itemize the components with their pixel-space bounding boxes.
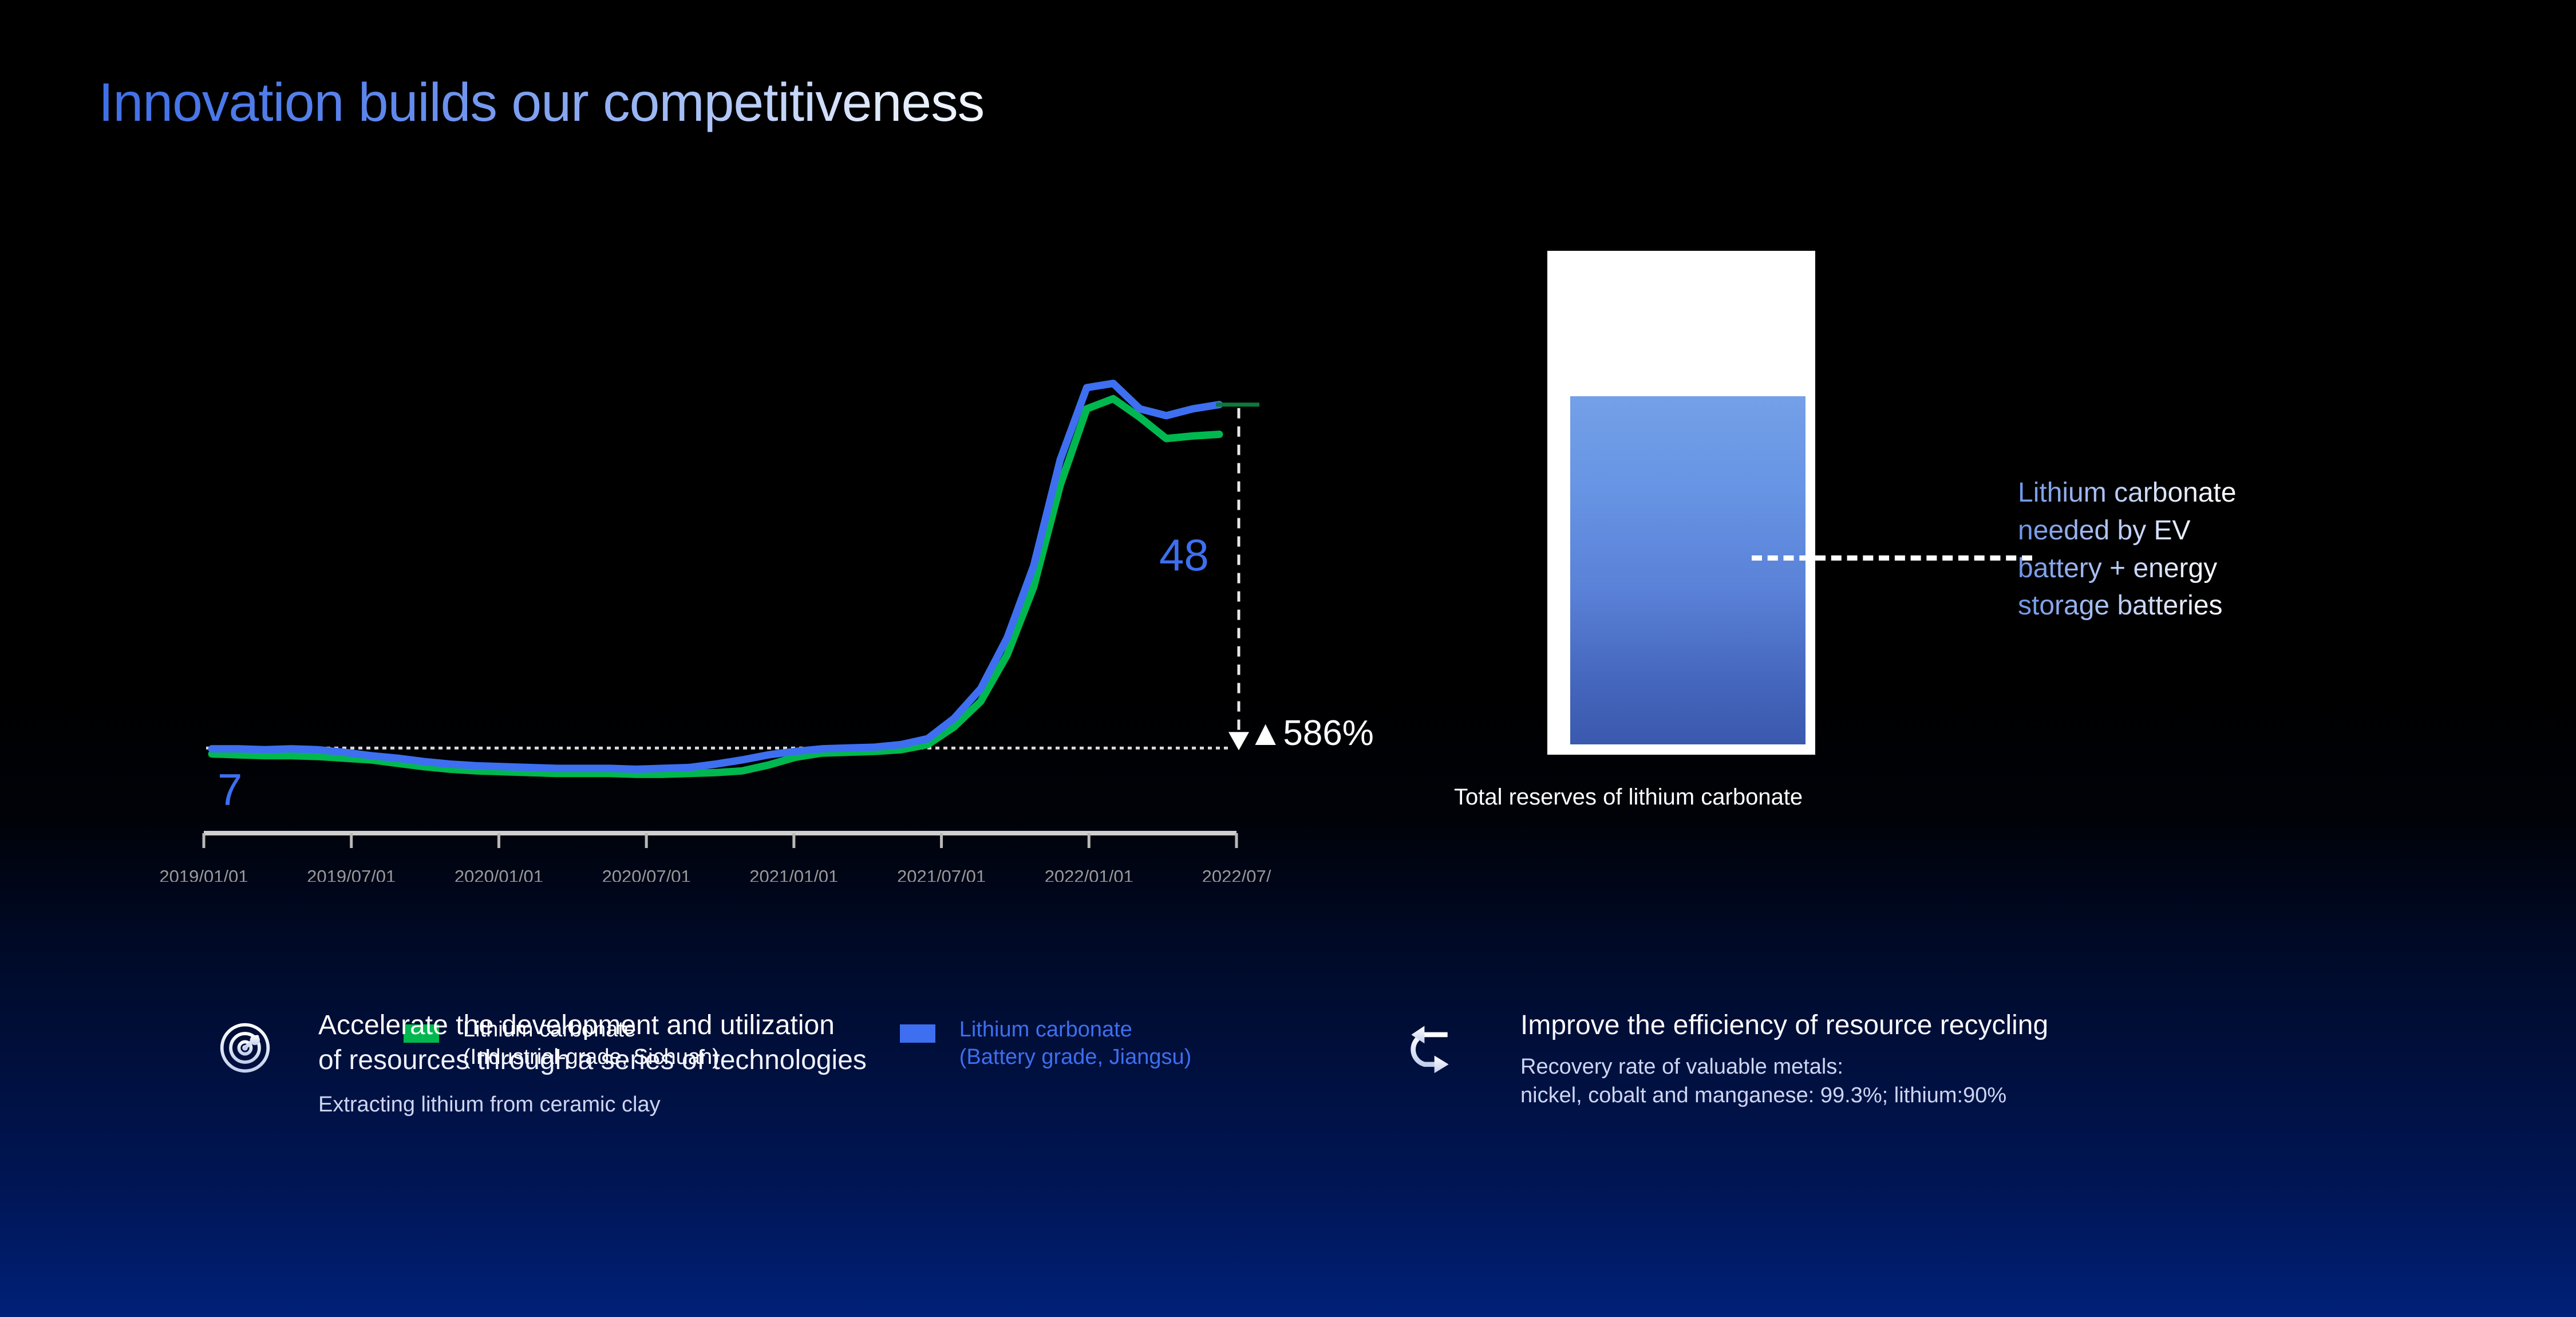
x-axis-tick-label: 2020/01/01: [455, 866, 543, 882]
delta-arrow-icon: [1228, 732, 1249, 750]
x-axis-tick-labels: 2019/01/012019/07/012020/01/012020/07/01…: [159, 866, 1271, 882]
reserves-caption: Total reserves of lithium carbonate: [1454, 784, 1803, 810]
vessel-fill-level: [1570, 396, 1805, 744]
series-line-battery: [212, 384, 1219, 770]
feature-text-block: Improve the efficiency of resource recyc…: [1520, 1008, 2048, 1110]
vessel-outline: [1547, 251, 1815, 755]
callout-dashed-connector: [1752, 555, 2032, 561]
x-axis-tick-label: 2022/01/01: [1045, 866, 1133, 882]
page-title: Innovation builds our competitiveness: [98, 72, 984, 134]
feature-accelerate-development: Accelerate the development and utilizati…: [218, 1008, 867, 1119]
feature-subtitle: Extracting lithium from ceramic clay: [318, 1091, 867, 1119]
reserves-demand-note: Lithium carbonate needed by EV battery +…: [2018, 474, 2237, 625]
x-axis-tick-label: 2022/07/: [1202, 866, 1271, 882]
slide-canvas: Innovation builds our competitiveness 20…: [0, 0, 2576, 1317]
feature-text-block: Accelerate the development and utilizati…: [318, 1008, 867, 1119]
feature-title: Improve the efficiency of resource recyc…: [1520, 1008, 2048, 1043]
x-axis-tick-label: 2020/07/01: [602, 866, 691, 882]
end-value-label: 48: [1159, 533, 1209, 577]
change-percent-label: ▲586%: [1248, 716, 1374, 751]
reserves-vessel-graphic: [1547, 251, 1815, 755]
x-axis: [204, 833, 1236, 848]
lithium-price-chart: 2019/01/012019/07/012020/01/012020/07/01…: [143, 240, 1345, 882]
feature-resource-recycling: Improve the efficiency of resource recyc…: [1402, 1008, 2048, 1110]
x-axis-tick-label: 2021/01/01: [749, 866, 838, 882]
feature-subtitle: Recovery rate of valuable metals: nickel…: [1520, 1053, 2048, 1110]
x-axis-tick-label: 2019/07/01: [307, 866, 396, 882]
radar-target-icon: [218, 1020, 272, 1075]
legend-label-battery: Lithium carbonate (Battery grade, Jiangs…: [959, 1016, 1192, 1071]
recycle-loop-icon: [1402, 1020, 1457, 1075]
x-axis-tick-label: 2019/01/01: [159, 866, 248, 882]
feature-title: Accelerate the development and utilizati…: [318, 1008, 867, 1078]
legend-swatch-battery: [900, 1024, 935, 1043]
series-line-industrial: [212, 399, 1219, 774]
x-axis-tick-label: 2021/07/01: [897, 866, 986, 882]
start-value-label: 7: [218, 767, 242, 812]
legend-item-battery[interactable]: Lithium carbonate (Battery grade, Jiangs…: [900, 1016, 1192, 1071]
